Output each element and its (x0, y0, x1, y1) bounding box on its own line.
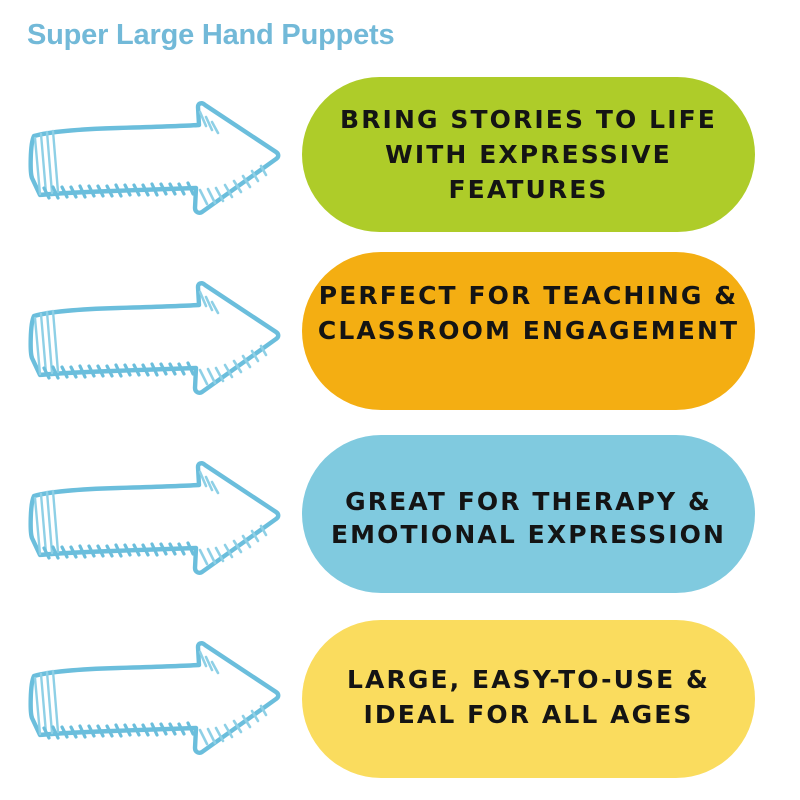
feature-row: GREAT FOR THERAPY & EMOTIONAL EXPRESSION (0, 432, 800, 597)
feature-row: LARGE, EASY-TO-USE & IDEAL FOR ALL AGES (0, 612, 800, 782)
feature-line: EMOTIONAL EXPRESSION (331, 522, 726, 547)
hand-drawn-right-arrow-icon (22, 460, 284, 578)
hand-drawn-right-arrow-icon (22, 280, 284, 398)
feature-line: FEATURES (448, 177, 608, 202)
feature-line: WITH EXPRESSIVE (385, 142, 672, 167)
feature-pill[interactable]: GREAT FOR THERAPY & EMOTIONAL EXPRESSION (302, 435, 755, 593)
hand-drawn-right-arrow-icon (22, 100, 284, 218)
feature-line: PERFECT FOR TEACHING & (319, 283, 738, 308)
feature-line: BRING STORIES TO LIFE (340, 107, 717, 132)
feature-line: LARGE, EASY-TO-USE & (347, 667, 710, 692)
feature-pill[interactable]: BRING STORIES TO LIFE WITH EXPRESSIVE FE… (302, 77, 755, 232)
page-title: Super Large Hand Puppets (27, 16, 394, 54)
hand-drawn-right-arrow-icon (22, 640, 284, 758)
feature-line: CLASSROOM ENGAGEMENT (318, 318, 739, 343)
feature-pill[interactable]: LARGE, EASY-TO-USE & IDEAL FOR ALL AGES (302, 620, 755, 778)
feature-pill[interactable]: PERFECT FOR TEACHING & CLASSROOM ENGAGEM… (302, 252, 755, 410)
feature-row: PERFECT FOR TEACHING & CLASSROOM ENGAGEM… (0, 252, 800, 417)
feature-line: IDEAL FOR ALL AGES (363, 702, 693, 727)
infographic-page: Super Large Hand Puppets (0, 0, 800, 800)
feature-line: GREAT FOR THERAPY & (345, 489, 712, 514)
feature-row: BRING STORIES TO LIFE WITH EXPRESSIVE FE… (0, 72, 800, 237)
